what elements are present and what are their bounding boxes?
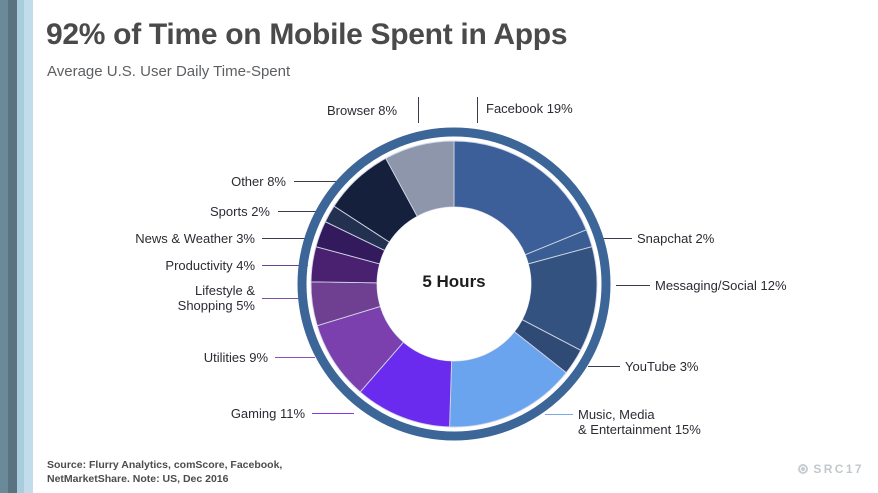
callout-browser: Browser 8% xyxy=(327,103,397,118)
source-note: Source: Flurry Analytics, comScore, Face… xyxy=(47,459,282,486)
donut-hole xyxy=(377,207,531,361)
callout-other: Other 8% xyxy=(156,174,286,189)
page-title: 92% of Time on Mobile Spent in Apps xyxy=(46,18,567,52)
accent-stripe-light xyxy=(17,0,24,493)
watermark: SRC17 xyxy=(798,462,864,476)
source-line-1: Source: Flurry Analytics, comScore, Face… xyxy=(47,459,282,473)
slide-canvas: 92% of Time on Mobile Spent in Apps Aver… xyxy=(0,0,878,493)
watermark-label: SRC17 xyxy=(813,462,864,476)
callout-youtube: YouTube 3% xyxy=(625,359,699,374)
callout-news: News & Weather 3% xyxy=(90,231,255,246)
callout-facebook: Facebook 19% xyxy=(486,101,573,116)
donut-chart-svg xyxy=(295,118,613,450)
callout-lifestyle-line1: Lifestyle & xyxy=(130,283,255,298)
circle-logo-icon xyxy=(798,464,808,474)
accent-stripe-dark xyxy=(8,0,17,493)
callout-messaging: Messaging/Social 12% xyxy=(655,278,787,293)
callout-snapchat: Snapchat 2% xyxy=(637,231,714,246)
donut-chart: 5 Hours xyxy=(295,118,613,450)
callout-productivity: Productivity 4% xyxy=(108,258,255,273)
accent-stripe-pale xyxy=(24,0,33,493)
source-line-2: NetMarketShare. Note: US, Dec 2016 xyxy=(47,473,282,487)
callout-lifestyle: Lifestyle & Shopping 5% xyxy=(130,283,255,313)
callout-gaming: Gaming 11% xyxy=(168,406,305,421)
page-subtitle: Average U.S. User Daily Time-Spent xyxy=(47,63,290,80)
callout-sports: Sports 2% xyxy=(132,204,270,219)
callout-lifestyle-line2: Shopping 5% xyxy=(130,298,255,313)
leader-messaging xyxy=(616,285,650,286)
accent-stripe-outer xyxy=(0,0,8,493)
callout-utilities: Utilities 9% xyxy=(150,350,268,365)
